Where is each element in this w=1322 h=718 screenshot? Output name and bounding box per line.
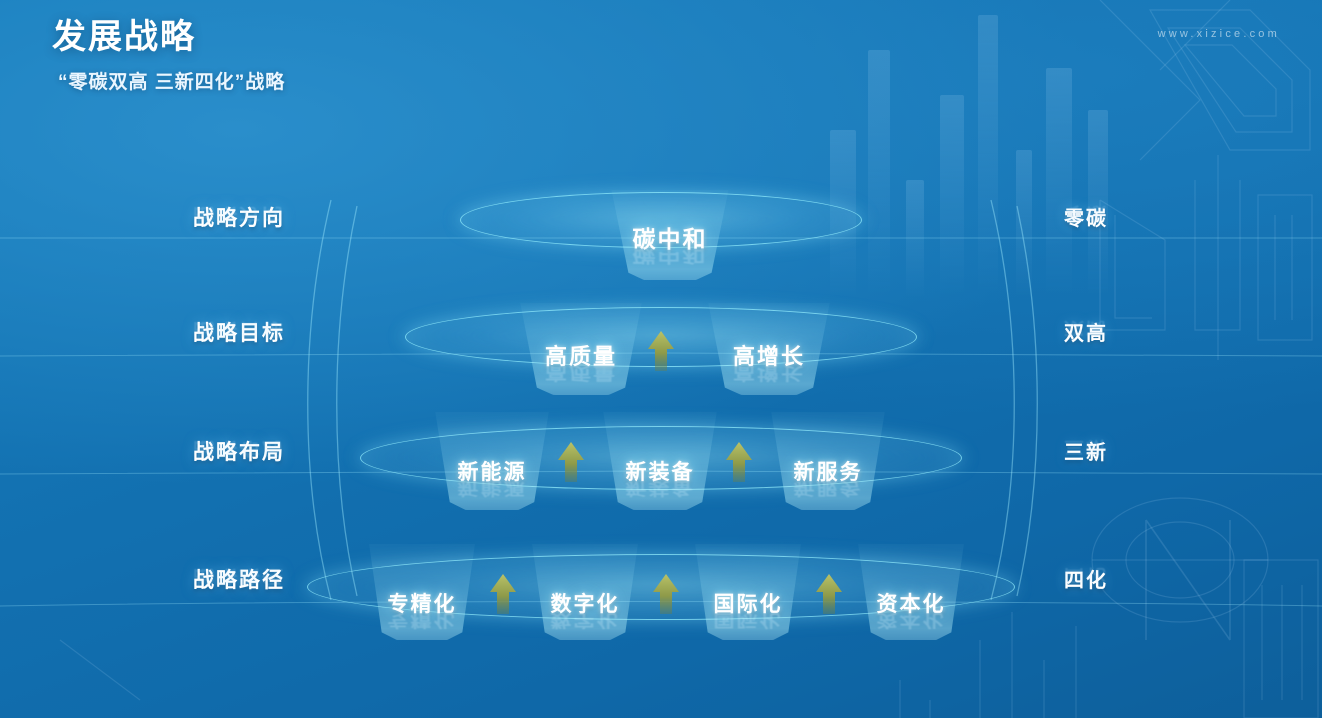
node-label-reflection: 数字化 <box>551 609 620 633</box>
tier-row-4: 战略路径 战略路径 专精化 专精化 数字化 数字化 <box>0 510 1322 640</box>
node-guojihua[interactable]: 国际化 国际化 <box>685 538 811 640</box>
tier-row-3: 战略布局 战略布局 新能源 新能源 新装备 新装备 <box>0 380 1322 510</box>
tier-label-2-reflection: 战略目标 <box>193 318 285 344</box>
tier-row-2: 战略目标 战略目标 高质量 高质量 高增长 高增长 <box>0 265 1322 395</box>
tier-tag-4-reflection: 四化 <box>1064 564 1108 589</box>
tier-label-1-reflection: 战略方向 <box>193 203 285 229</box>
node-xinfuwu[interactable]: 新服务 新服务 <box>762 406 894 510</box>
tier-tag-1-reflection: 零碳 <box>1064 202 1108 227</box>
node-label-reflection: 新服务 <box>794 477 863 501</box>
node-label-reflection: 国际化 <box>714 609 783 633</box>
tier-tag-3-reflection: 三新 <box>1064 436 1108 461</box>
up-arrow-icon <box>724 440 754 484</box>
up-arrow-icon <box>814 572 844 616</box>
strategy-funnel-diagram: 战略方向 战略方向 碳中和 碳中和 零碳 零碳 战略目标 战略目标 高质量 高质… <box>0 0 1322 718</box>
tier-tag-2-reflection: 双高 <box>1064 317 1108 342</box>
node-zhuanjinghua[interactable]: 专精化 专精化 <box>359 538 485 640</box>
tier-row-1: 战略方向 战略方向 碳中和 碳中和 零碳 零碳 <box>0 150 1322 280</box>
up-arrow-icon <box>556 440 586 484</box>
node-label-reflection: 专精化 <box>388 609 457 633</box>
up-arrow-icon <box>488 572 518 616</box>
tier-label-4-reflection: 战略路径 <box>193 565 285 591</box>
node-shuzihua[interactable]: 数字化 数字化 <box>522 538 648 640</box>
node-zibenhua[interactable]: 资本化 资本化 <box>848 538 974 640</box>
up-arrow-icon <box>651 572 681 616</box>
node-label-reflection: 新装备 <box>626 477 695 501</box>
node-xinzhuangbei[interactable]: 新装备 新装备 <box>594 406 726 510</box>
node-label-reflection: 资本化 <box>877 609 946 633</box>
up-arrow-icon <box>646 329 676 373</box>
node-xinnengyuan[interactable]: 新能源 新能源 <box>426 406 558 510</box>
tier-label-3-reflection: 战略布局 <box>193 437 285 463</box>
slide-canvas: 发展战略 “零碳双高 三新四化”战略 www.xizice.com 战略方向 战… <box>0 0 1322 718</box>
node-label-reflection: 新能源 <box>458 477 527 501</box>
